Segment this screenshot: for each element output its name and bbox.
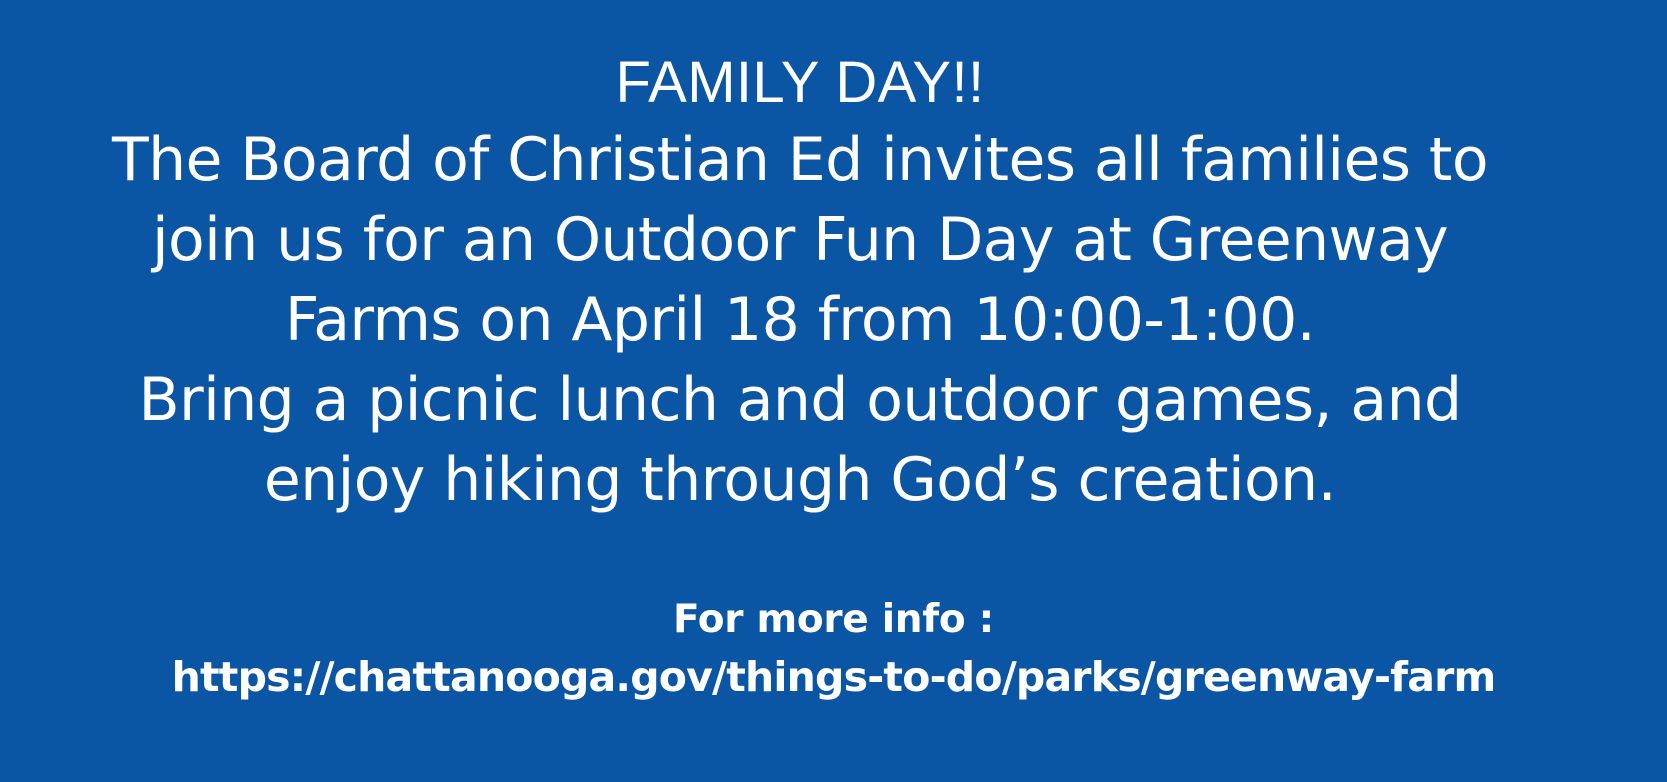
body-line-4: Bring a picnic lunch and outdoor games, …: [0, 360, 1600, 440]
more-info-url[interactable]: https://chattanooga.gov/things-to-do/par…: [0, 648, 1667, 706]
page-title: FAMILY DAY!!: [0, 44, 1600, 122]
body-line-3: Farms on April 18 from 10:00-1:00.: [0, 280, 1600, 360]
body-line-1: The Board of Christian Ed invites all fa…: [0, 120, 1600, 200]
family-day-flyer: FAMILY DAY!! The Board of Christian Ed i…: [0, 0, 1667, 782]
more-info-block: For more info : https://chattanooga.gov/…: [0, 592, 1667, 706]
headline-block: FAMILY DAY!!: [0, 44, 1600, 122]
body-line-2: join us for an Outdoor Fun Day at Greenw…: [0, 200, 1600, 280]
body-line-5: enjoy hiking through God’s creation.: [0, 440, 1600, 520]
announcement-body: The Board of Christian Ed invites all fa…: [0, 120, 1600, 520]
more-info-label: For more info :: [0, 592, 1667, 648]
